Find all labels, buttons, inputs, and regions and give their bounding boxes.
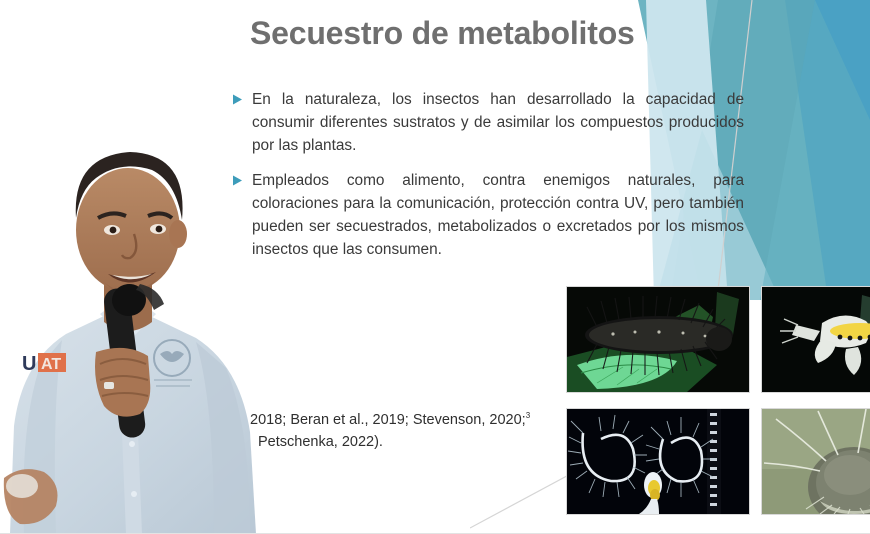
presenter-shirt (10, 316, 256, 534)
bullet-item: Empleados como alimento, contra enemigos… (232, 169, 744, 261)
bullet-text: En la naturaleza, los insectos han desar… (252, 88, 744, 157)
figure-1-artwork (567, 287, 749, 392)
uat-logo: U AT (22, 353, 66, 375)
citation-line-1: 2018; Beran et al., 2019; Stevenson, 202… (250, 405, 580, 431)
citation-line-1-text: 2018; Beran et al., 2019; Stevenson, 202… (250, 412, 526, 428)
shirt-emblem (154, 340, 192, 386)
slide-title: Secuestro de metabolitos (250, 14, 720, 52)
svg-text:U: U (22, 353, 36, 375)
wedge-teal-lower (760, 0, 870, 300)
figure-3-artwork (567, 409, 749, 514)
bullet-text: Empleados como alimento, contra enemigos… (252, 169, 744, 261)
triangle-right-icon (232, 175, 252, 186)
figure-grid: 1 (556, 278, 870, 534)
figure-thumbnail-4: 4 (761, 408, 870, 515)
figure-thumbnail-2: 2 (761, 286, 870, 393)
ring (104, 382, 114, 389)
figure-4-artwork (762, 409, 870, 514)
figure-2-artwork (762, 287, 870, 392)
bullet-item: En la naturaleza, los insectos han desar… (232, 88, 744, 157)
presenter-hand (95, 348, 150, 417)
citation-superscript: 3 (526, 411, 530, 420)
citation-line-2: Petschenka, 2022). (250, 431, 580, 453)
figure-thumbnail-1: 1 (566, 286, 750, 393)
presenter-hair (76, 152, 183, 220)
triangle-right-icon (232, 94, 252, 105)
presentation-slide: Secuestro de metabolitos En la naturalez… (0, 0, 870, 534)
citation-block: 2018; Beran et al., 2019; Stevenson, 202… (250, 405, 580, 453)
microphone (103, 287, 147, 439)
slide-body: En la naturaleza, los insectos han desar… (232, 88, 744, 273)
presenter-second-hand (4, 469, 58, 524)
wedge-blue-right (785, 0, 870, 300)
presenter-head (76, 168, 180, 292)
figure-thumbnail-3: 3 (566, 408, 750, 515)
svg-text:AT: AT (41, 356, 61, 373)
